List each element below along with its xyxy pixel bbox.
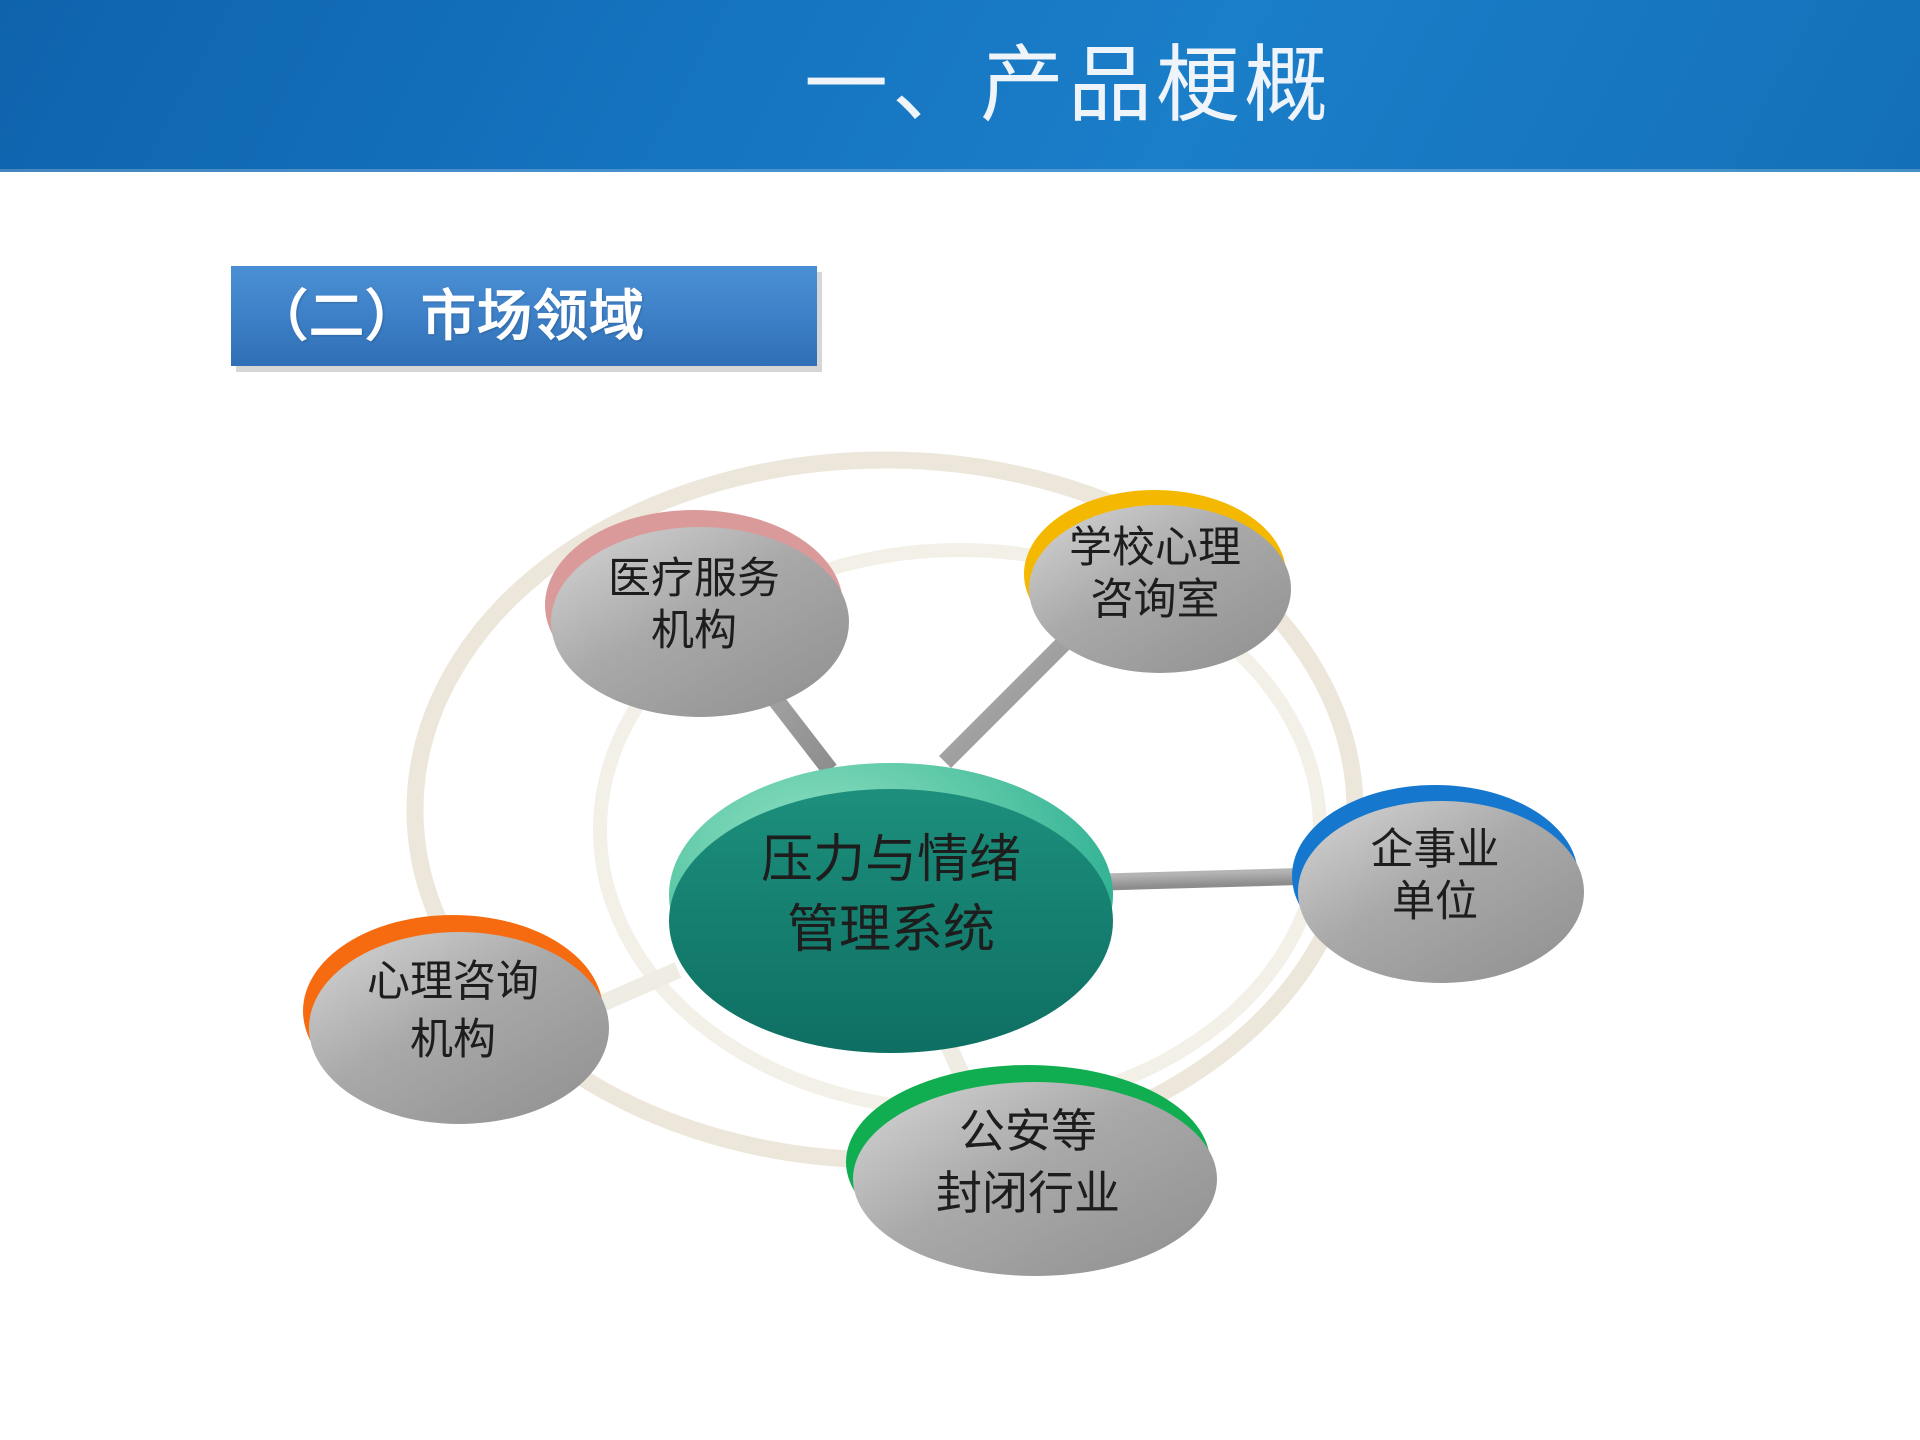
node-hub-label-line1: 压力与情绪 xyxy=(761,825,1021,895)
node-counsel[interactable]: 心理咨询 机构 xyxy=(303,915,603,1107)
node-medical[interactable]: 医疗服务 机构 xyxy=(545,510,843,700)
node-counsel-label-line2: 机构 xyxy=(367,1011,539,1069)
node-enterprise-label-line1: 企事业 xyxy=(1371,824,1500,876)
node-medical-label-line1: 医疗服务 xyxy=(608,553,780,605)
node-school-label-line1: 学校心理 xyxy=(1069,522,1241,574)
node-hub-label-line2: 管理系统 xyxy=(761,895,1021,965)
header-band: 一、产品梗概 xyxy=(0,0,1920,172)
node-medical-label: 医疗服务 机构 xyxy=(602,553,786,658)
node-hub[interactable]: 压力与情绪 管理系统 xyxy=(669,763,1113,1027)
node-enterprise-label-line2: 单位 xyxy=(1371,876,1500,928)
node-school-label: 学校心理 咨询室 xyxy=(1063,522,1247,627)
node-counsel-label: 心理咨询 机构 xyxy=(361,953,545,1069)
node-police[interactable]: 公安等 封闭行业 xyxy=(846,1065,1210,1259)
node-counsel-label-line1: 心理咨询 xyxy=(367,953,539,1011)
node-school[interactable]: 学校心理 咨询室 xyxy=(1024,490,1286,658)
slide-root: 一、产品梗概 （二）市场领域 压力与情绪 xyxy=(0,0,1920,1440)
node-school-label-line2: 咨询室 xyxy=(1069,574,1241,626)
market-domain-diagram: 压力与情绪 管理系统 医疗服务 机构 学校心理 咨询室 企事业 单位 xyxy=(0,170,1920,1440)
node-medical-label-line2: 机构 xyxy=(608,605,780,657)
node-hub-label: 压力与情绪 管理系统 xyxy=(755,825,1027,965)
node-enterprise-label: 企事业 单位 xyxy=(1365,824,1506,929)
node-police-label: 公安等 封闭行业 xyxy=(930,1100,1126,1224)
connector-hub-to-enterprise xyxy=(1105,876,1318,882)
page-title: 一、产品梗概 xyxy=(0,34,1332,136)
node-police-label-line1: 公安等 xyxy=(936,1100,1120,1162)
node-police-label-line2: 封闭行业 xyxy=(936,1162,1120,1224)
node-enterprise[interactable]: 企事业 单位 xyxy=(1292,785,1578,967)
